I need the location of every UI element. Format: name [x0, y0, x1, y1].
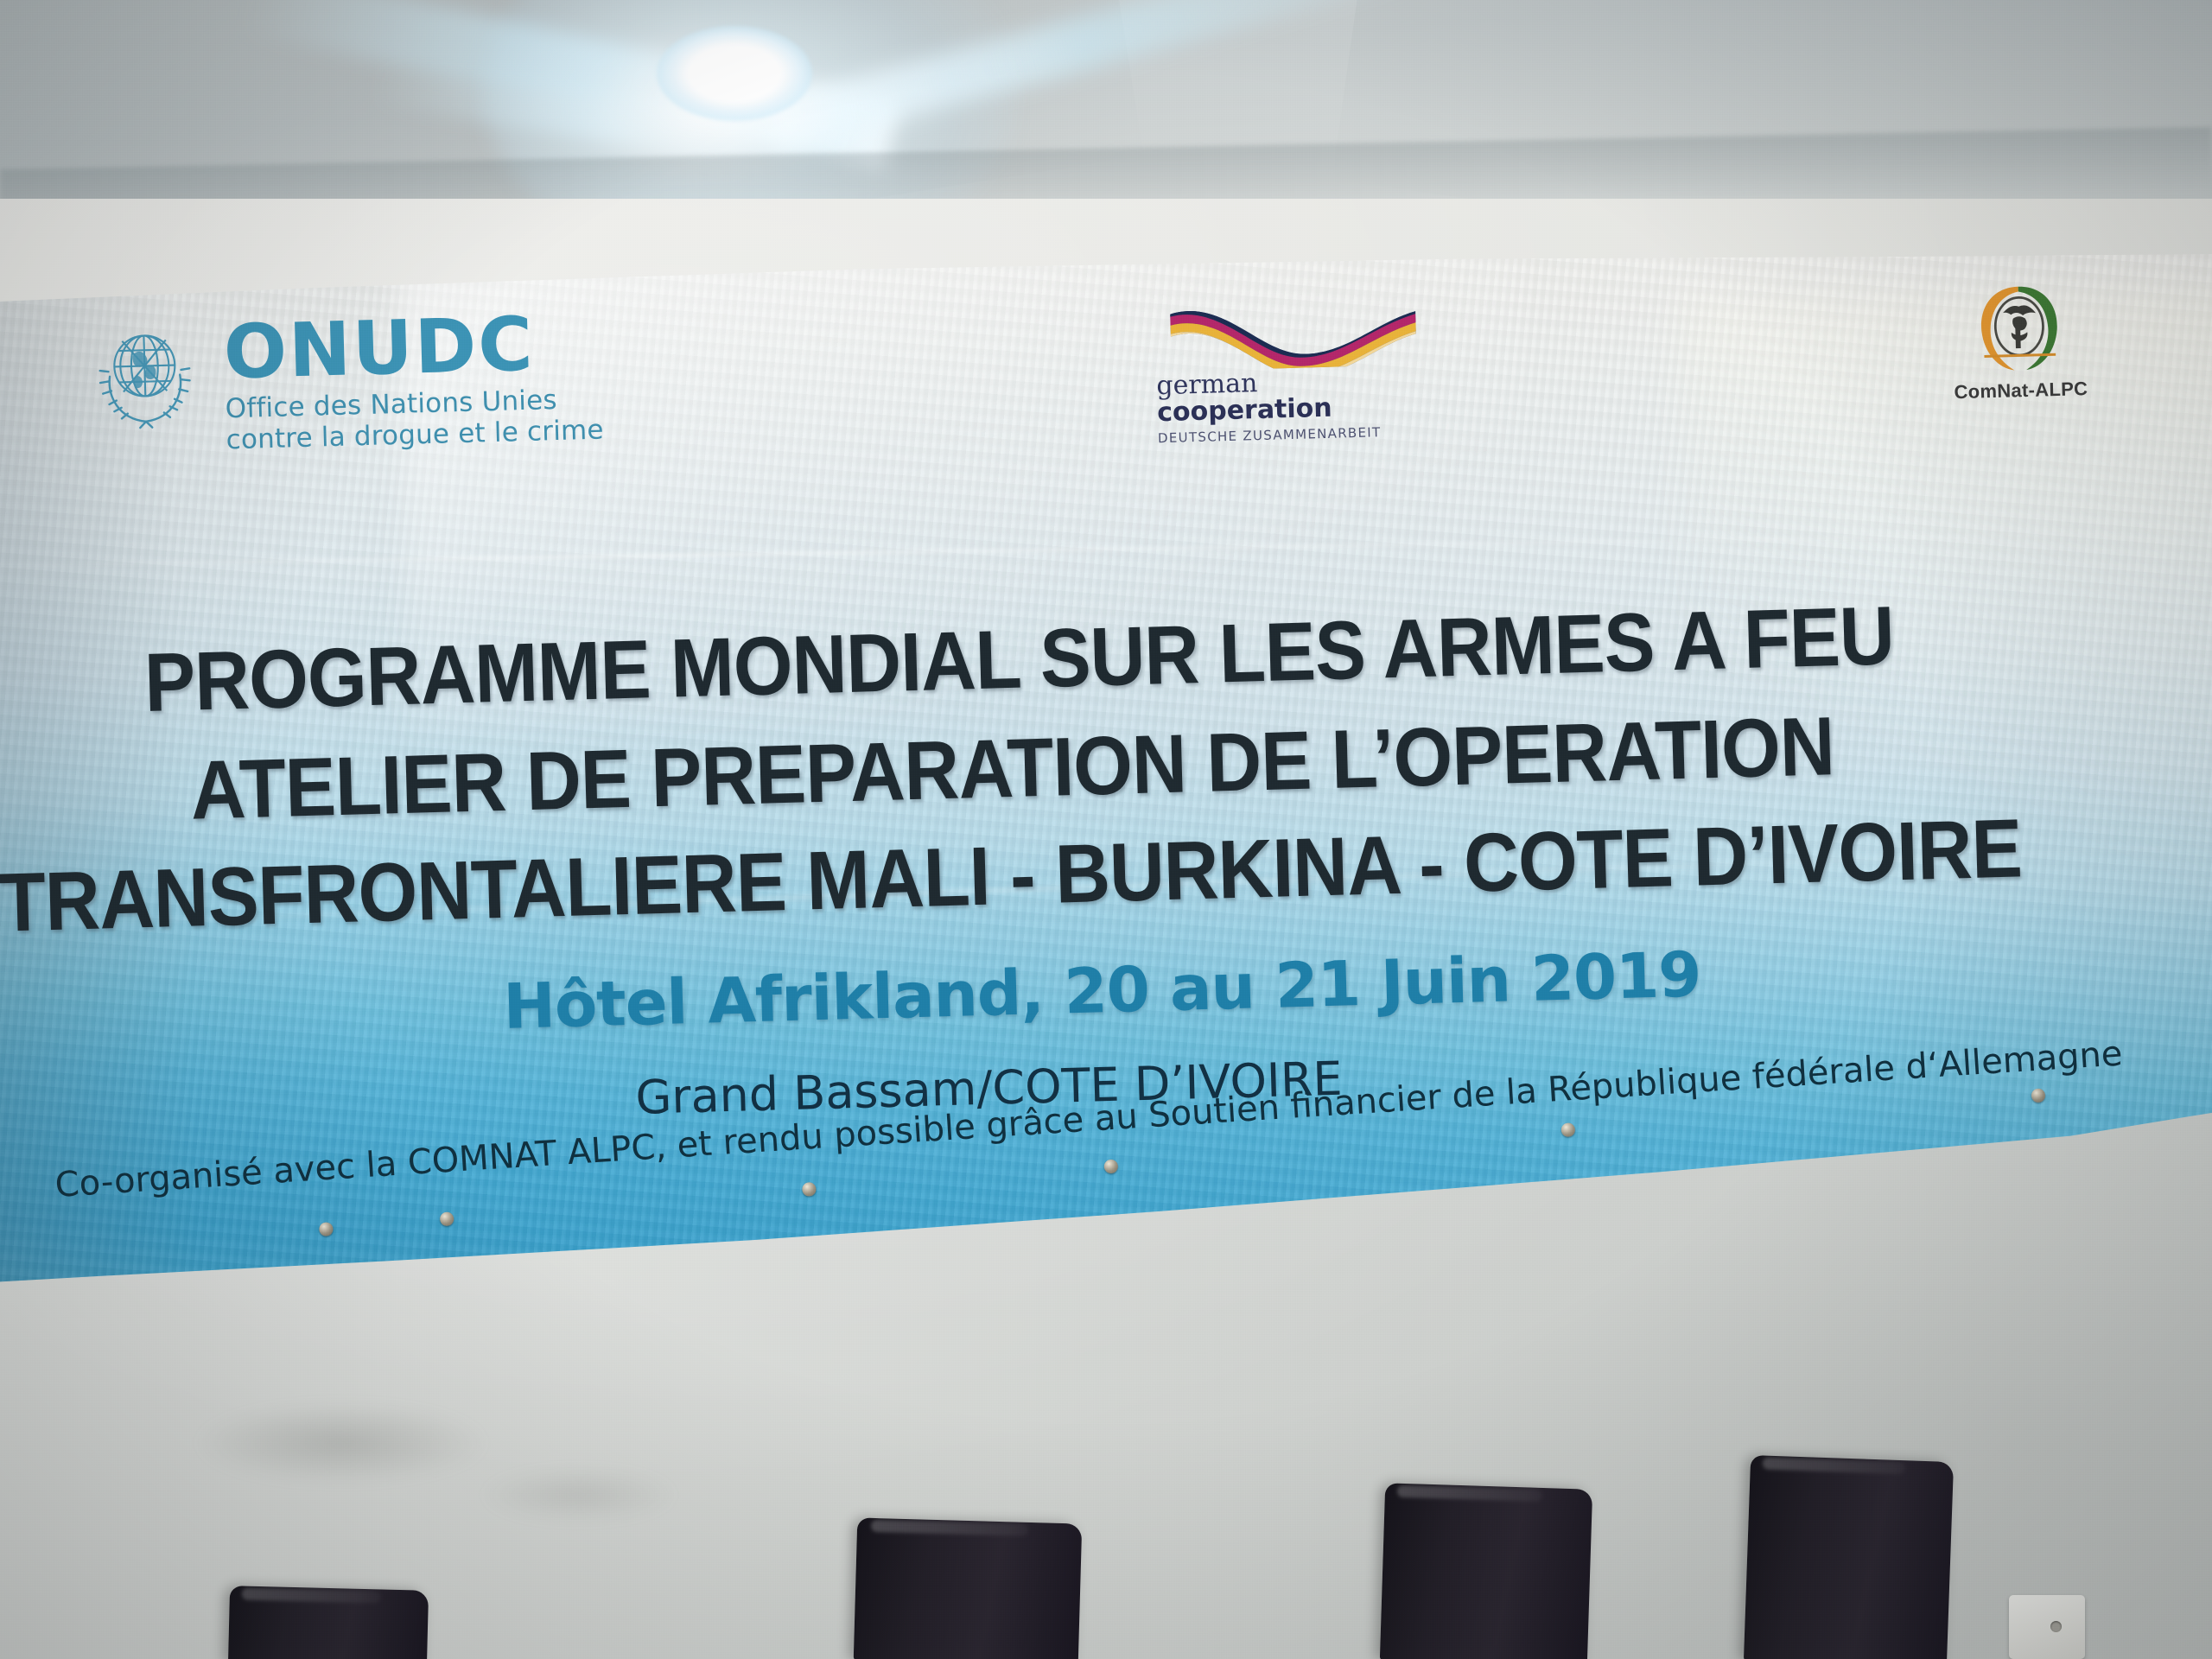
chair-back: [1380, 1483, 1592, 1659]
un-emblem-icon: [83, 311, 207, 435]
wall-smudge: [199, 1404, 484, 1482]
banner-grommet: [2031, 1089, 2045, 1103]
banner-grommet: [319, 1222, 333, 1236]
unodc-logo: ONUDC Office des Nations Unies contre la…: [83, 301, 604, 461]
chair-back: [1744, 1455, 1954, 1659]
banner-grommet: [440, 1212, 454, 1226]
chair-back: [854, 1517, 1083, 1659]
german-flag-wave-icon: [1163, 299, 1424, 372]
event-banner: ONUDC Office des Nations Unies contre la…: [0, 232, 2212, 1287]
ceiling-light: [657, 26, 812, 121]
chair-highlight: [1763, 1457, 1905, 1474]
german-cooperation-line2: cooperation: [1157, 391, 1469, 426]
chair-back: [228, 1586, 429, 1659]
german-cooperation-logo: german cooperation DEUTSCHE ZUSAMMENARBE…: [1154, 298, 1469, 446]
comnat-alpc-label: ComNat-ALPC: [1930, 377, 2113, 404]
wall-outlet-screw: [2050, 1621, 2062, 1632]
banner-grommet: [802, 1182, 816, 1196]
unodc-acronym: ONUDC: [223, 309, 602, 388]
chair-highlight: [242, 1588, 381, 1604]
banner-grommet: [1104, 1160, 1118, 1173]
wall-smudge-secondary: [484, 1469, 674, 1521]
photo-scene: ONUDC Office des Nations Unies contre la…: [0, 0, 2212, 1659]
venue-date-text: Hôtel Afrikland, 20 au 21 Juin 2019: [502, 938, 1701, 1042]
comnat-alpc-logo: ComNat-ALPC: [1928, 280, 2113, 404]
chair-highlight: [870, 1520, 1027, 1536]
wall-outlet: [2009, 1595, 2085, 1659]
comnat-alpc-emblem-icon: [1967, 282, 2073, 378]
banner-grommet: [1561, 1122, 1575, 1136]
chair-highlight: [1397, 1485, 1542, 1502]
